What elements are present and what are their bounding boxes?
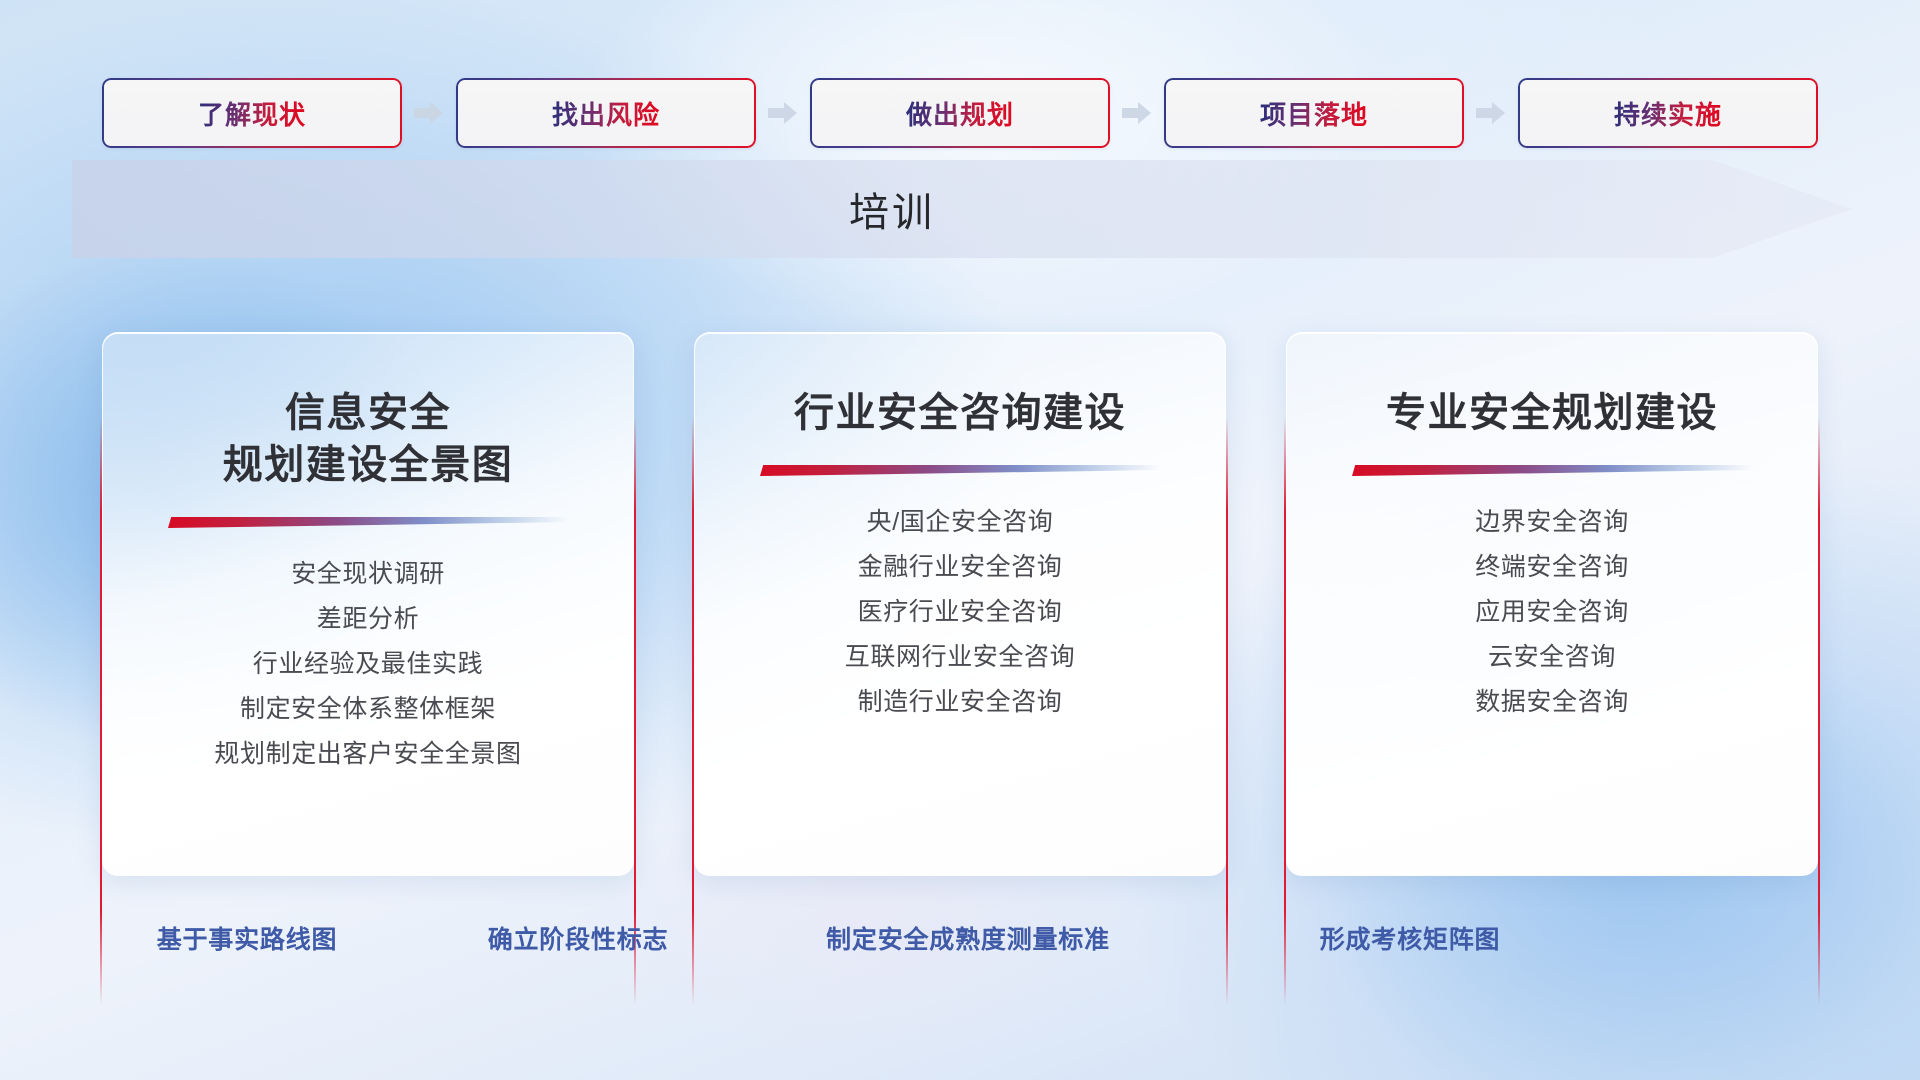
- step-chip-5[interactable]: 持续实施: [1518, 78, 1818, 148]
- card-title: 信息安全 规划建设全景图: [223, 387, 514, 491]
- card-title: 专业安全规划建设: [1386, 387, 1718, 439]
- step-arrow-4: [1464, 78, 1518, 148]
- footer-tag: 形成考核矩阵图: [1320, 920, 1501, 956]
- step-arrow-1: [402, 78, 456, 148]
- footer-tag: 确立阶段性标志: [488, 920, 669, 956]
- card-divider: [168, 517, 568, 528]
- card-divider: [760, 465, 1160, 476]
- list-item: 云安全咨询: [1287, 645, 1817, 670]
- card-accent-line-right: [1226, 417, 1228, 1005]
- step-chip-label: 项目落地: [1260, 95, 1368, 132]
- card-professional-planning[interactable]: 专业安全规划建设 边界安全咨询 终端安全咨询 应用安全咨询 云安全咨询 数据安全…: [1286, 332, 1818, 876]
- step-chip-3[interactable]: 做出规划: [810, 78, 1110, 148]
- list-item: 终端安全咨询: [1287, 555, 1817, 580]
- step-chip-label: 持续实施: [1614, 95, 1722, 132]
- card-accent-line-right: [634, 417, 636, 1005]
- list-item: 制造行业安全咨询: [695, 690, 1225, 715]
- list-item: 医疗行业安全咨询: [695, 600, 1225, 625]
- list-item: 应用安全咨询: [1287, 600, 1817, 625]
- card-industry-consulting[interactable]: 行业安全咨询建设 央/国企安全咨询 金融行业安全咨询 医疗行业安全咨询 互联网行…: [694, 332, 1226, 876]
- card-accent-line-left: [1284, 417, 1286, 1005]
- arrow-right-icon: [768, 101, 798, 125]
- cards-row: 信息安全 规划建设全景图 安全现状调研 差距分析 行业经验及最佳实践 制定安全体…: [0, 332, 1920, 876]
- card-accent-line-right: [1818, 417, 1820, 1005]
- card-divider: [1352, 465, 1752, 476]
- footer-tags-row: 基于事实路线图 确立阶段性标志 制定安全成熟度测量标准 形成考核矩阵图: [0, 920, 1920, 962]
- list-item: 央/国企安全咨询: [695, 510, 1225, 535]
- card-accent-line-left: [692, 417, 694, 1005]
- arrow-right-icon: [1122, 101, 1152, 125]
- step-arrow-3: [1110, 78, 1164, 148]
- footer-tag: 制定安全成熟度测量标准: [826, 920, 1110, 956]
- step-chip-1[interactable]: 了解现状: [102, 78, 402, 148]
- process-steps-row: 了解现状 找出风险 做出规划 项目落地: [0, 78, 1920, 148]
- card-item-list: 边界安全咨询 终端安全咨询 应用安全咨询 云安全咨询 数据安全咨询: [1287, 510, 1817, 715]
- step-chip-label: 找出风险: [552, 95, 660, 132]
- list-item: 行业经验及最佳实践: [103, 652, 633, 677]
- list-item: 安全现状调研: [103, 562, 633, 587]
- step-chip-label: 做出规划: [906, 95, 1014, 132]
- arrow-right-icon: [1476, 101, 1506, 125]
- list-item: 金融行业安全咨询: [695, 555, 1225, 580]
- arrow-right-icon: [414, 101, 444, 125]
- training-banner: 培训: [72, 160, 1852, 258]
- training-label: 培训: [72, 160, 1712, 258]
- card-item-list: 安全现状调研 差距分析 行业经验及最佳实践 制定安全体系整体框架 规划制定出客户…: [103, 562, 633, 767]
- step-arrow-2: [756, 78, 810, 148]
- step-chip-4[interactable]: 项目落地: [1164, 78, 1464, 148]
- slide-canvas: 了解现状 找出风险 做出规划 项目落地: [0, 0, 1920, 1080]
- footer-tag: 基于事实路线图: [157, 920, 338, 956]
- card-item-list: 央/国企安全咨询 金融行业安全咨询 医疗行业安全咨询 互联网行业安全咨询 制造行…: [695, 510, 1225, 715]
- step-chip-2[interactable]: 找出风险: [456, 78, 756, 148]
- step-chip-label: 了解现状: [198, 95, 306, 132]
- list-item: 数据安全咨询: [1287, 690, 1817, 715]
- card-security-blueprint[interactable]: 信息安全 规划建设全景图 安全现状调研 差距分析 行业经验及最佳实践 制定安全体…: [102, 332, 634, 876]
- list-item: 互联网行业安全咨询: [695, 645, 1225, 670]
- card-title: 行业安全咨询建设: [794, 387, 1126, 439]
- list-item: 边界安全咨询: [1287, 510, 1817, 535]
- list-item: 规划制定出客户安全全景图: [103, 742, 633, 767]
- list-item: 制定安全体系整体框架: [103, 697, 633, 722]
- list-item: 差距分析: [103, 607, 633, 632]
- card-accent-line-left: [100, 417, 102, 1005]
